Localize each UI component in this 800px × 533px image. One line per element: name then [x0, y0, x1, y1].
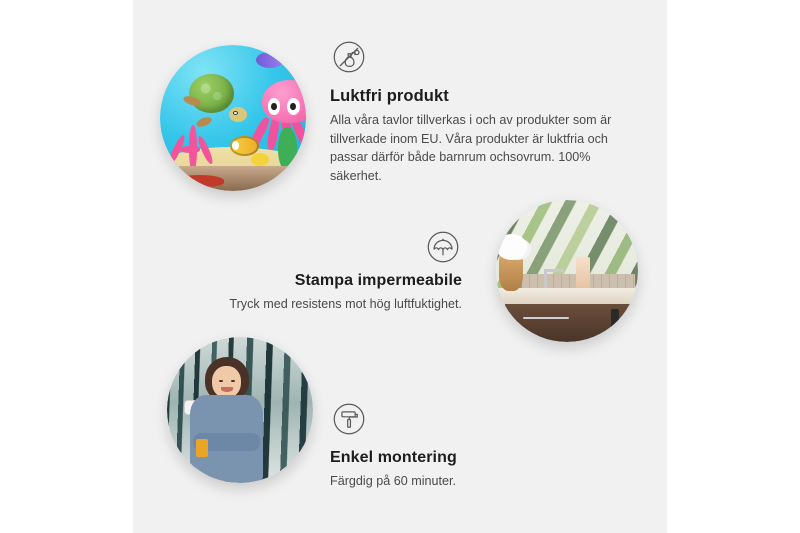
feature-description: Tryck med resistens mot hög luftfuktighe…: [210, 295, 462, 314]
pink-coral: [169, 118, 219, 171]
vanity-cabinet: [505, 304, 638, 342]
sea-turtle-icon: [183, 74, 244, 124]
feature-title: Enkel montering: [330, 449, 590, 467]
feature-description: Färgdig på 60 minuter.: [330, 472, 590, 491]
green-seaweed: [278, 127, 297, 171]
faucet-icon: [544, 269, 564, 288]
no-fragrance-icon: [330, 63, 368, 80]
feature-title: Stampa impermeabile: [210, 272, 462, 290]
feature-waterproof: Stampa impermeabile Tryck med resistens …: [210, 228, 462, 314]
soap-bottle: [576, 257, 590, 288]
umbrella-icon: [424, 228, 462, 266]
countertop: [496, 288, 638, 305]
feature-description: Alla våra tavlor tillverkas i och av pro…: [330, 111, 630, 186]
feature-assembly: Enkel montering Färgdig på 60 minuter.: [330, 400, 590, 491]
product-feature-banner: Luktfri produkt Alla våra tavlor tillver…: [0, 0, 800, 533]
paint-roller-icon: [330, 425, 368, 442]
white-flowers: [496, 234, 527, 260]
feature-odourless: Luktfri produkt Alla våra tavlor tillver…: [330, 38, 630, 186]
woman-face: [212, 366, 241, 398]
photo-underwater-kids-mural: [160, 45, 306, 191]
photo-woman-with-paint-roller-forest: [167, 337, 313, 483]
feature-title: Luktfri produkt: [330, 87, 630, 106]
roller-grip: [196, 439, 208, 457]
sea-floor: [160, 166, 306, 191]
photo-bathroom-tropical-wallpaper: [496, 200, 638, 342]
